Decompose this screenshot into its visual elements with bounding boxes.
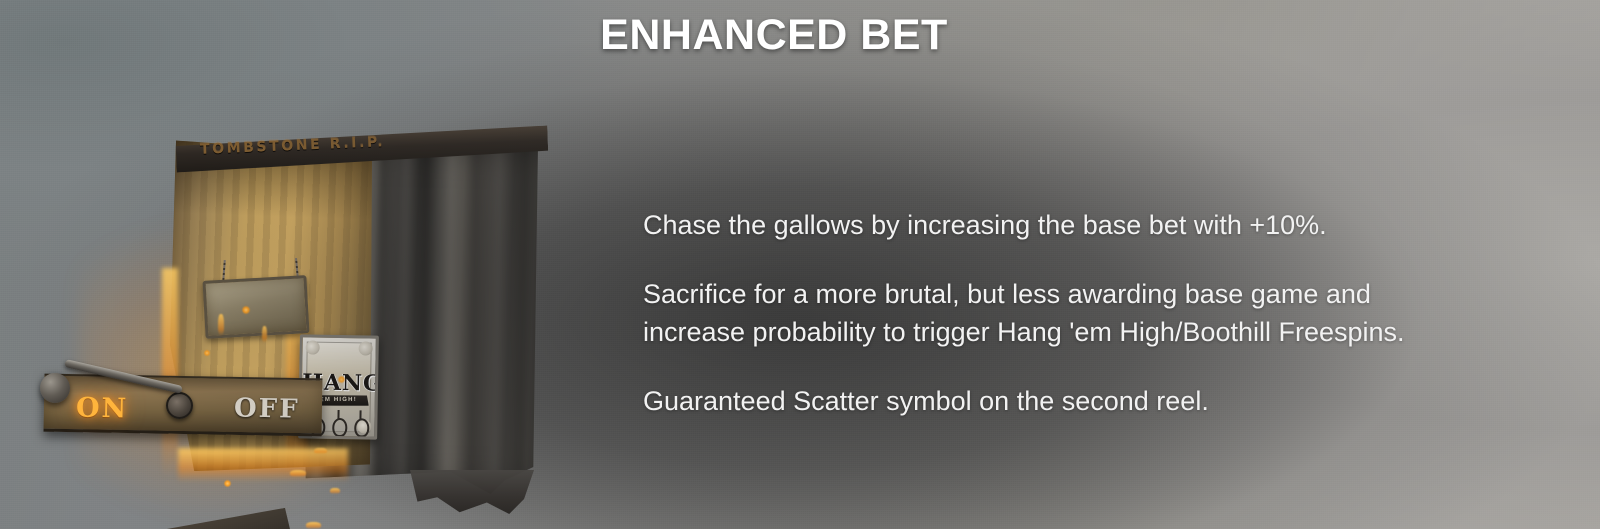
ember-streak [330,488,340,494]
ember-particle [204,350,210,356]
gallows-machine-artwork: HANG EM HIGH! TOMBSTONE R.I.P. ON OFF [18,118,548,518]
noose-icon [330,410,345,434]
ember-streak [290,470,306,477]
ember-streak [218,314,224,336]
cabinet-edge-flame-left [162,268,178,478]
description-paragraph-2: Sacrifice for a more brutal, but less aw… [643,275,1433,351]
lever-on-label: ON [76,393,129,425]
lever-pivot-bolt [166,392,193,419]
lever-off-label: OFF [234,393,300,424]
description-paragraph-1: Chase the gallows by increasing the base… [643,206,1433,244]
ember-streak [262,326,267,343]
ember-streak [306,522,321,529]
reels-base-foot [410,470,534,514]
ember-streak [314,448,327,454]
lever-knob-ball[interactable] [40,373,70,403]
ember-particle [242,306,250,314]
enhanced-bet-promo-panel: HANG EM HIGH! TOMBSTONE R.I.P. ON OFF [0,0,1600,529]
ember-particle [338,376,345,383]
page-title: ENHANCED BET [0,11,1548,60]
description-block: Chase the gallows by increasing the base… [643,206,1433,420]
ember-particle [224,480,231,487]
noose-icon [352,410,367,434]
description-paragraph-3: Guaranteed Scatter symbol on the second … [643,382,1433,420]
